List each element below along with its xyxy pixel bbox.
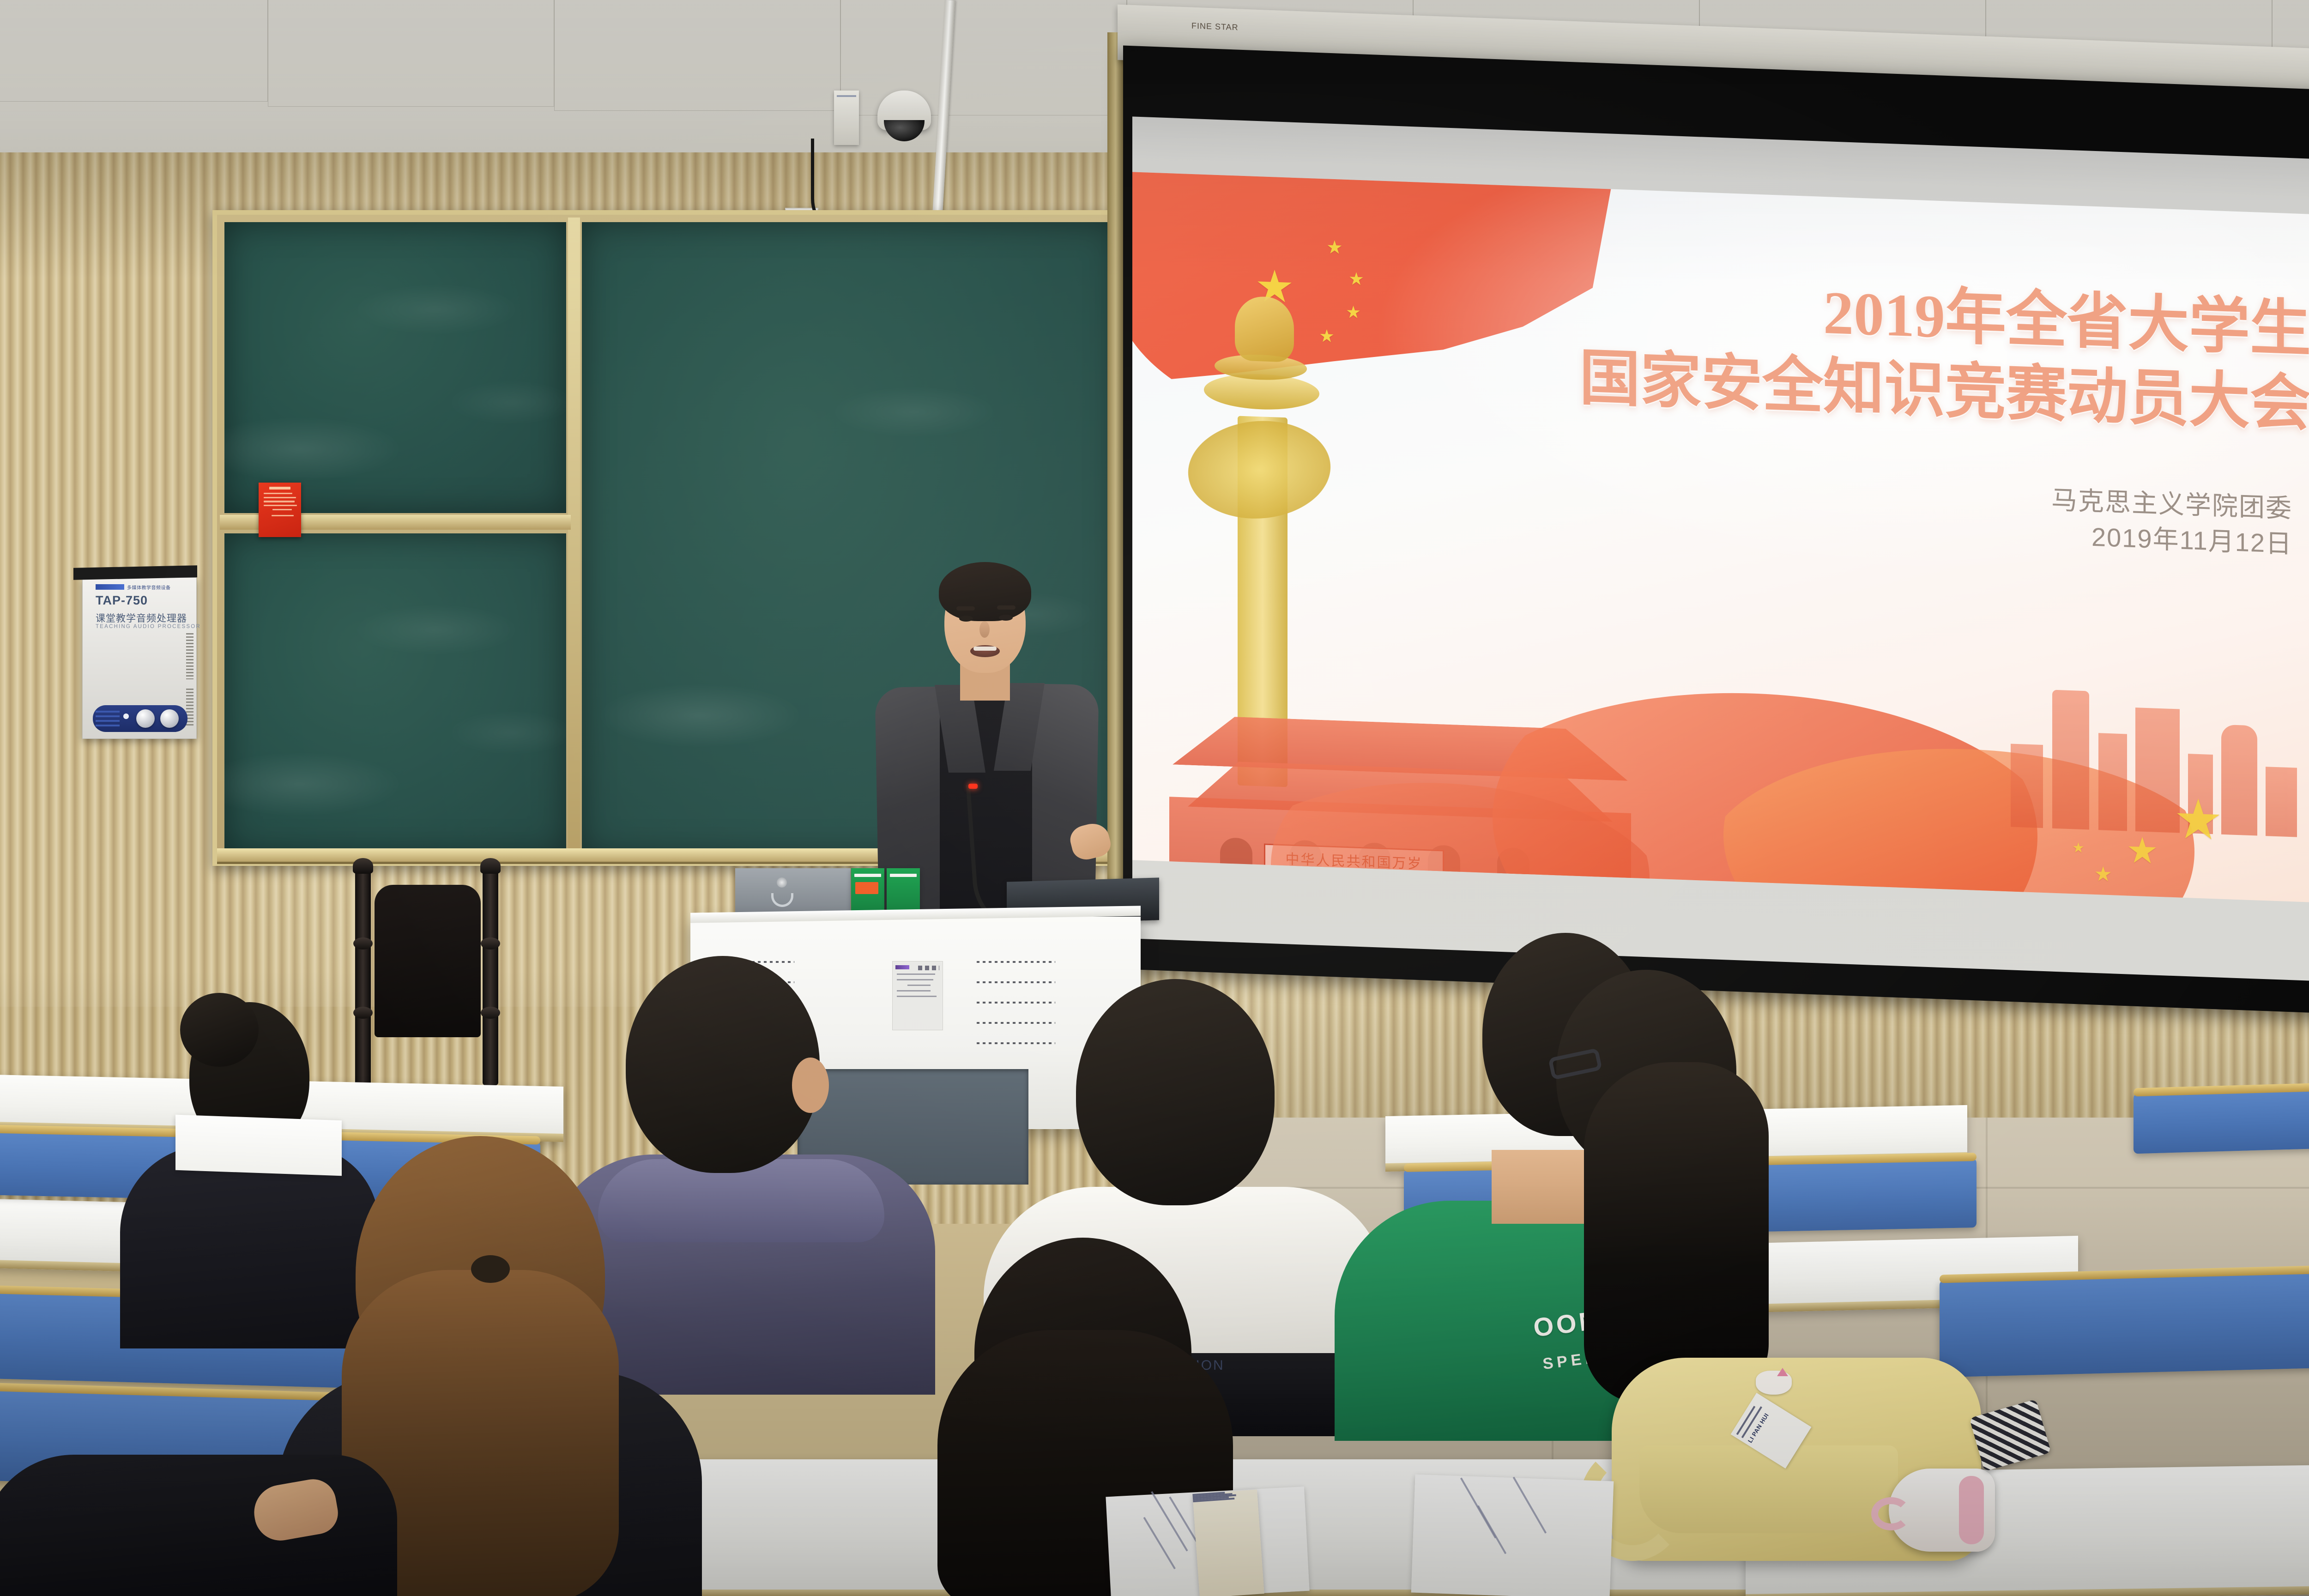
volume-knob-2[interactable] <box>160 709 179 728</box>
microphone-led-icon <box>968 784 978 789</box>
paper-sheet-back <box>175 1115 342 1176</box>
presenter-eye-left <box>959 616 973 622</box>
audio-control-panel[interactable] <box>93 705 187 732</box>
presenter-brow-left <box>956 606 975 611</box>
bottle-strap-loop <box>1871 1497 1911 1530</box>
audio-brand-text: 多媒体教学音频设备 <box>127 584 171 591</box>
red-notice-poster <box>259 483 301 537</box>
student-bottom-left <box>0 1413 397 1596</box>
slide-subtitle: 马克思主义学院团委 2019年11月12日 <box>2051 482 2292 562</box>
audio-processor-panel[interactable]: 多媒体教学音频设备 TAP-750 课堂教学音频处理器 TEACHING AUD… <box>82 577 197 739</box>
screen-rail-left <box>1107 32 1124 1007</box>
cat-pin-icon <box>1756 1371 1792 1395</box>
audio-model-label: TAP-750 <box>96 593 148 608</box>
student-head <box>1076 979 1275 1205</box>
presenter-hair <box>939 562 1031 621</box>
lecture-hall-photo: 多媒体教学音频设备 TAP-750 课堂教学音频处理器 TEACHING AUD… <box>0 0 2309 1596</box>
audio-vent-upper <box>186 633 193 679</box>
open-booklet <box>1192 1489 1264 1596</box>
paper-sheet-right <box>1411 1475 1614 1596</box>
water-bottle <box>1889 1469 1995 1552</box>
presenter-mouth <box>970 645 1000 657</box>
backpack: LI PAN HUI <box>1584 1330 2046 1589</box>
audio-brand-icon <box>96 584 124 590</box>
lock-icon <box>777 877 787 888</box>
projection-screen: ★ ★ ★ ★ ★ <box>1132 116 2309 982</box>
presenter-eye-right <box>999 615 1013 621</box>
hair-bun <box>180 993 259 1067</box>
camera-junction-box <box>834 91 859 145</box>
presenter-nose <box>979 621 990 638</box>
bench-far-right[interactable] <box>2134 1086 2309 1154</box>
screen-brand-label: FINE STAR <box>1191 21 1239 33</box>
audio-name-en: TEACHING AUDIO PROCESSOR <box>96 624 201 629</box>
umbrella <box>1969 1399 2051 1472</box>
bottle-cap <box>1959 1476 1984 1544</box>
power-led-icon <box>123 713 129 719</box>
hair-tie-icon <box>471 1255 510 1283</box>
presenter-brow-right <box>997 605 1015 610</box>
slide-title: 2019年全省大学生 国家安全知识竞赛动员大会 <box>1579 266 2309 441</box>
metal-lockbox <box>735 868 851 917</box>
student-body <box>0 1455 397 1596</box>
box-handle[interactable] <box>771 893 793 907</box>
presentation-slide: ★ ★ ★ ★ ★ <box>1132 172 2309 904</box>
audio-name-cn: 课堂教学音频处理器 <box>96 611 187 625</box>
volume-knob-1[interactable] <box>136 709 155 728</box>
audio-level-bars <box>96 711 120 726</box>
student-ear <box>792 1058 829 1113</box>
